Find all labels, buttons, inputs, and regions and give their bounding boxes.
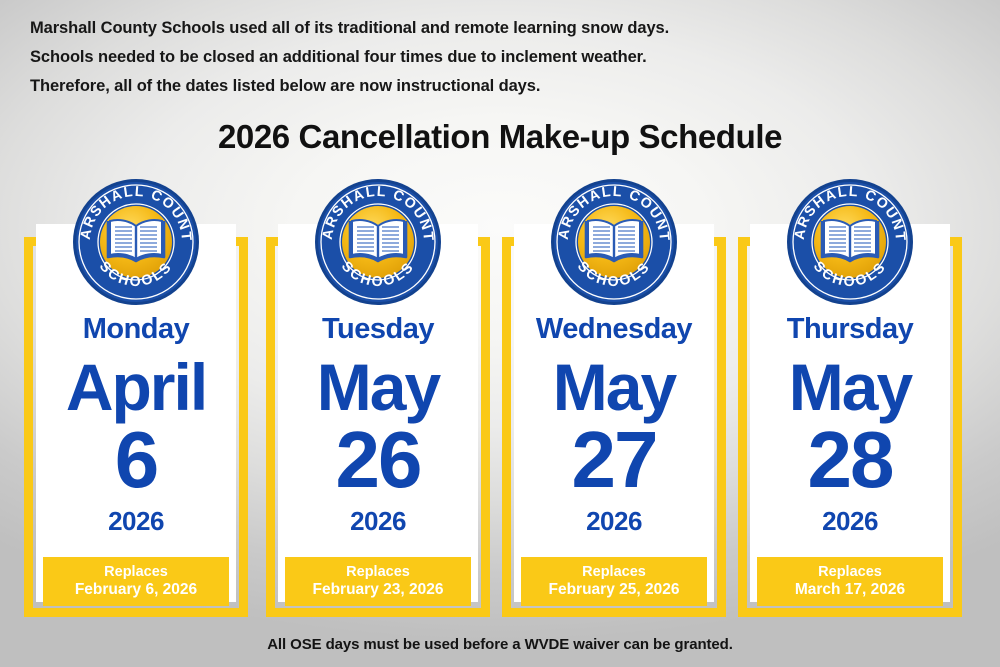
card-day-number: 28 <box>750 418 950 502</box>
replaces-badge: Replaces February 6, 2026 <box>43 557 229 606</box>
marshall-county-schools-seal-icon: MARSHALL COUNTY SCHOOLS <box>312 176 444 308</box>
intro-line-3: Therefore, all of the dates listed below… <box>30 72 910 101</box>
replaces-label: Replaces <box>45 564 227 581</box>
intro-line-2: Schools needed to be closed an additiona… <box>30 43 910 72</box>
replaces-date: February 23, 2026 <box>287 581 469 598</box>
card-month: May <box>514 350 714 424</box>
intro-line-1: Marshall County Schools used all of its … <box>30 14 910 43</box>
card-date-block: Thursday May 28 2026 <box>750 308 950 536</box>
card-weekday: Thursday <box>750 312 950 346</box>
card-day-number: 6 <box>36 418 236 502</box>
schedule-card: MARSHALL COUNTY SCHOOLS <box>266 176 490 618</box>
open-book-icon <box>108 220 164 261</box>
replaces-badge: Replaces March 17, 2026 <box>757 557 943 606</box>
schedule-card: MARSHALL COUNTY SCHOOLS <box>24 176 248 618</box>
card-day-number: 27 <box>514 418 714 502</box>
marshall-county-schools-seal-icon: MARSHALL COUNTY SCHOOLS <box>548 176 680 308</box>
schedule-card: MARSHALL COUNTY SCHOOLS <box>738 176 962 618</box>
card-date-block: Monday April 6 2026 <box>36 308 236 536</box>
open-book-icon <box>586 220 642 261</box>
schedule-card: MARSHALL COUNTY SCHOOLS <box>502 176 726 618</box>
card-day-number: 26 <box>278 418 478 502</box>
replaces-label: Replaces <box>759 564 941 581</box>
intro-paragraph: Marshall County Schools used all of its … <box>30 14 910 101</box>
card-month: May <box>750 350 950 424</box>
card-date-block: Tuesday May 26 2026 <box>278 308 478 536</box>
replaces-badge: Replaces February 23, 2026 <box>285 557 471 606</box>
replaces-badge: Replaces February 25, 2026 <box>521 557 707 606</box>
replaces-label: Replaces <box>523 564 705 581</box>
replaces-label: Replaces <box>287 564 469 581</box>
card-year: 2026 <box>514 506 714 536</box>
replaces-date: February 6, 2026 <box>45 581 227 598</box>
replaces-date: March 17, 2026 <box>759 581 941 598</box>
marshall-county-schools-seal-icon: MARSHALL COUNTY SCHOOLS <box>70 176 202 308</box>
card-year: 2026 <box>278 506 478 536</box>
card-weekday: Monday <box>36 312 236 346</box>
card-weekday: Wednesday <box>514 312 714 346</box>
footer-note: All OSE days must be used before a WVDE … <box>0 636 1000 653</box>
marshall-county-schools-seal-icon: MARSHALL COUNTY SCHOOLS <box>784 176 916 308</box>
page-title: 2026 Cancellation Make-up Schedule <box>0 118 1000 156</box>
open-book-icon <box>822 220 878 261</box>
replaces-date: February 25, 2026 <box>523 581 705 598</box>
card-month: April <box>36 350 236 424</box>
card-weekday: Tuesday <box>278 312 478 346</box>
card-month: May <box>278 350 478 424</box>
card-year: 2026 <box>750 506 950 536</box>
card-date-block: Wednesday May 27 2026 <box>514 308 714 536</box>
card-year: 2026 <box>36 506 236 536</box>
schedule-card-row: MARSHALL COUNTY SCHOOLS <box>24 176 976 626</box>
open-book-icon <box>350 220 406 261</box>
